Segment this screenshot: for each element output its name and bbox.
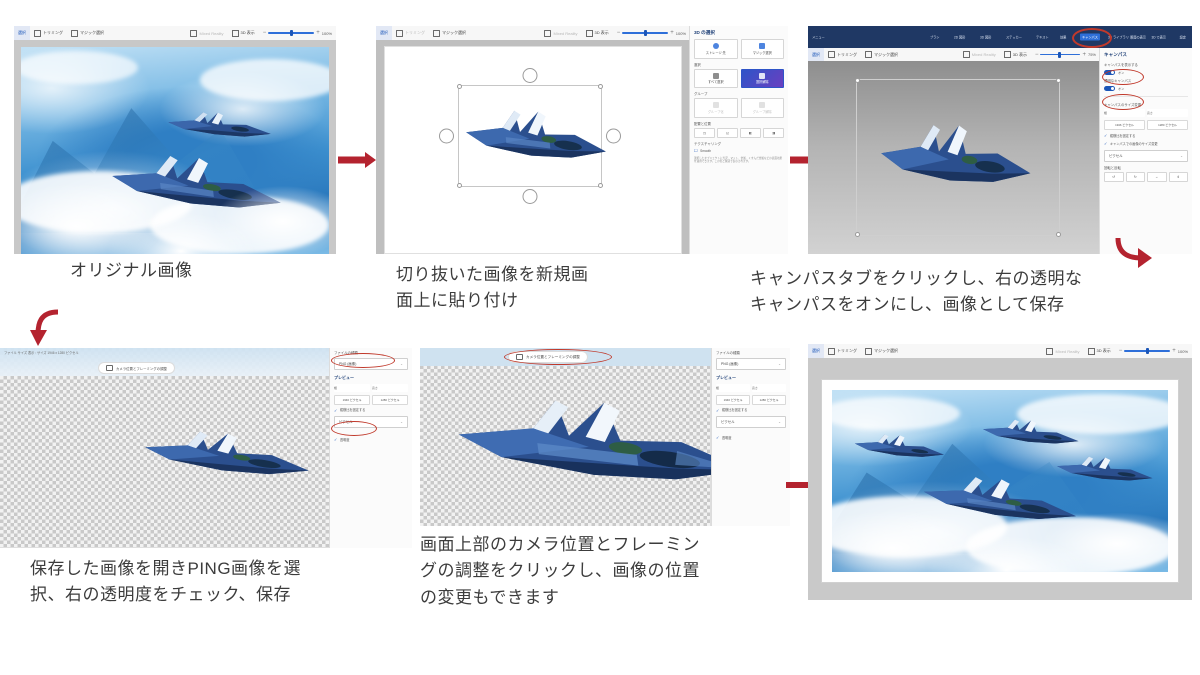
zoom-control[interactable]: − + 100% (613, 30, 690, 36)
chk-transparency-label: 透明度 (340, 438, 350, 442)
ribbon-tab-3d[interactable]: 3D 図形 (980, 35, 991, 40)
magic-select-icon (71, 30, 78, 37)
preview-label: プレビュー (712, 371, 790, 382)
ribbon-tab-text[interactable]: テキスト (1036, 35, 1049, 40)
select-all-icon (713, 73, 719, 79)
camera-banner[interactable]: カメラ位置とフレーミングの調整 (98, 362, 175, 374)
mixed-reality-icon (544, 30, 551, 37)
rotate-handle-top[interactable] (523, 68, 538, 83)
camera-banner-label: カメラ位置とフレーミングの調整 (116, 366, 167, 371)
cloud (150, 196, 329, 254)
zoom-slider[interactable] (1040, 54, 1080, 56)
tool-select[interactable]: 選択 (808, 344, 824, 358)
size-values[interactable]: 1946 ピクセル 1280 ピクセル (1100, 119, 1192, 132)
artwork-original (21, 47, 329, 254)
input-width[interactable]: 1946 ピクセル (716, 395, 750, 405)
ribbon-tab-brush[interactable]: ブラシ (930, 35, 940, 40)
select-label: 選択 (18, 30, 26, 36)
zoom-control[interactable]: − + 75% (1031, 52, 1100, 58)
chk-transparency[interactable]: ✓ 透明度 (712, 434, 790, 442)
arrow-curved-wrap (28, 308, 64, 348)
cloud (21, 171, 193, 233)
artwork-result (832, 390, 1168, 572)
zoom-out-icon[interactable]: − (263, 30, 267, 36)
annotation-circle-toggle-2 (1102, 94, 1144, 110)
handle-tl[interactable] (855, 78, 860, 83)
tool-mixed-reality[interactable]: Mixed Reality (1042, 344, 1083, 358)
toolbar: 選択 トリミング マジック選択 Mixed Reality 3D 表示 − (808, 48, 1100, 62)
chk-ratio-label: 縦横比を固定する (722, 408, 748, 412)
tool-select[interactable]: 選択 (376, 26, 392, 40)
btn-group-label: グループ化 (708, 110, 724, 114)
chevron-down-icon: ⌄ (400, 420, 403, 424)
group-icon (713, 102, 719, 108)
tool-crop[interactable]: トリミング (824, 344, 861, 358)
col-h-label: 高さ (372, 384, 408, 392)
row-group: グループ化 グループ解除 (690, 97, 788, 119)
screen-result: 選択 トリミング マジック選択 Mixed Reality 3D 表示 − (808, 344, 1192, 600)
arrow-shaft (786, 482, 810, 488)
col-h-label: 高さ (1147, 109, 1188, 117)
crop-label: トリミング (837, 52, 857, 58)
handle-top-right[interactable] (598, 84, 603, 89)
toggle1-label: キャンパスを表示する (1100, 60, 1192, 68)
tool-crop[interactable]: トリミング (824, 48, 861, 61)
tool-magic-select[interactable]: マジック選択 (429, 26, 470, 40)
chk-lock-ratio[interactable]: ✓ 縦横比を固定する (712, 406, 790, 414)
flip-horizontal-icon[interactable]: ⇔ (1147, 172, 1167, 182)
zoom-in-icon[interactable]: + (1172, 348, 1176, 354)
chk-smooth[interactable]: ☐ Smooth (690, 147, 788, 155)
toggle2-state: オン (1118, 86, 1124, 91)
tool-view-3d[interactable]: 3D 表示 (1000, 48, 1031, 61)
select-label: 選択 (380, 30, 388, 36)
section-group-label: グループ (690, 89, 788, 97)
crop-icon (828, 348, 835, 355)
mixed-reality-label: Mixed Reality (553, 31, 577, 36)
zoom-slider[interactable] (1124, 350, 1170, 352)
row-align-icons: ◳ ◱ ◧ ◨ (690, 127, 788, 139)
select-file-type[interactable]: PNG (画像) ⌄ (716, 358, 786, 370)
tool-crop[interactable]: トリミング (392, 26, 429, 40)
align-icon-1[interactable]: ◳ (694, 128, 715, 138)
zoom-out-icon[interactable]: − (1119, 348, 1123, 354)
chk-lock-ratio[interactable]: ✓ 縦横比を固定する (1100, 132, 1192, 140)
cloud (200, 59, 329, 100)
chevron-down-icon: ⌄ (778, 362, 781, 366)
btn-ungroup[interactable]: グループ解除 (741, 98, 785, 118)
ribbon-tab-2d[interactable]: 2D 図形 (954, 35, 965, 40)
section-texture-label: テクスチャリング (690, 139, 788, 147)
tool-select[interactable]: 選択 (808, 48, 824, 61)
file-type-label: ファイルの種類 (712, 348, 790, 356)
mixed-reality-icon (1046, 348, 1053, 355)
size-headers: 幅 高さ (1100, 108, 1192, 119)
rotate-right-icon[interactable]: ↻ (1126, 172, 1146, 182)
canvas-bounds[interactable] (856, 79, 1060, 236)
screen-original: 選択 トリミング マジック選択 Mixed Reality 3D 表示 − (14, 26, 336, 254)
ungroup-icon (759, 102, 765, 108)
view3d-label: 3D 表示 (1013, 52, 1027, 58)
ribbon: メニュー ブラシ 2D 図形 3D 図形 ステッカー テキスト 効果 キャンパス… (808, 26, 1192, 48)
input-height[interactable]: 1280 ピクセル (752, 395, 786, 405)
col-h-label: 高さ (752, 384, 786, 392)
size-headers: 幅 高さ (330, 382, 412, 393)
magic-select-icon (865, 348, 872, 355)
ribbon-tab-view-3d[interactable]: 3D で表示 (1151, 35, 1166, 40)
rotate-label: 回転と反転 (1100, 163, 1192, 171)
screen-paste: 選択 トリミング マジック選択 Mixed Reality 3D 表示 − (376, 26, 788, 254)
zoom-control[interactable]: − + 100% (259, 30, 336, 36)
zoom-percent: 100% (1178, 349, 1188, 354)
select-label: 選択 (812, 52, 820, 58)
caption-5-line-3: の変更もできます (420, 585, 700, 611)
input-height[interactable]: 1280 ピクセル (372, 395, 408, 405)
align-icon-2[interactable]: ◱ (717, 128, 738, 138)
magic-select-label: マジック選択 (874, 52, 898, 58)
handle-bottom-left[interactable] (457, 183, 462, 188)
row-select: すべて選択 選択解除 (690, 68, 788, 90)
check-icon: ✓ (334, 437, 337, 442)
col-w-label: 幅 (1104, 109, 1145, 117)
handle-tr[interactable] (1056, 78, 1061, 83)
panel-3d-select: 3D の選択 ストレージ 先 マジック選択 選択 すべて選択 (689, 26, 788, 254)
tool-view-3d[interactable]: 3D 表示 (582, 26, 613, 40)
size-headers: 幅 高さ (712, 382, 790, 393)
cube-icon (1004, 51, 1011, 58)
cloud (21, 51, 138, 84)
annotation-circle-canvas-tab (1072, 28, 1112, 48)
annotation-circle-transparency (331, 421, 377, 436)
chk-fit-image[interactable]: ✓ キャンパスでの画像のサイズ変更 (1100, 140, 1192, 148)
toolbar: 選択 トリミング マジック選択 Mixed Reality 3D 表示 − (808, 344, 1192, 359)
crop-label: トリミング (43, 30, 63, 36)
annotation-circle-camera-banner (504, 349, 612, 365)
zoom-out-icon[interactable]: − (1035, 52, 1039, 58)
zoom-slider-knob[interactable] (644, 30, 646, 36)
view3d-label: 3D 表示 (1097, 348, 1111, 354)
align-icon-3[interactable]: ◧ (740, 128, 761, 138)
ribbon-tab-effect[interactable]: 効果 (1060, 35, 1066, 40)
unit-value: ピクセル (1109, 153, 1123, 158)
cloud (966, 517, 1168, 572)
tool-crop[interactable]: トリミング (30, 26, 67, 40)
section-select-label: 選択 (690, 60, 788, 68)
tool-view-3d[interactable]: 3D 表示 (1084, 344, 1115, 358)
tool-mixed-reality[interactable]: Mixed Reality (186, 26, 227, 40)
canvas-area (808, 358, 1192, 600)
btn-deselect[interactable]: 選択解除 (741, 69, 785, 89)
flip-vertical-icon[interactable]: ⇕ (1169, 172, 1189, 182)
btn-ungroup-label: グループ解除 (753, 110, 772, 114)
chk-fit-label: キャンパスでの画像のサイズ変更 (1110, 142, 1158, 146)
tool-select[interactable]: 選択 (14, 26, 30, 40)
panel-save-options: ファイルの種類 PNG (画像) ⌄ プレビュー 幅 高さ 1946 ピクセル … (711, 348, 790, 526)
crop-label: トリミング (837, 348, 857, 354)
chk-smooth-label: Smooth (700, 149, 711, 153)
select-unit[interactable]: ピクセル ⌄ (1104, 150, 1188, 162)
preview-label: プレビュー (330, 371, 412, 382)
canvas-area (14, 40, 336, 254)
screen-camera: カメラ位置とフレーミングの調整 ファイルの種類 PNG (画像) ⌄ プ (420, 348, 790, 526)
panel-title: キャンパス (1100, 48, 1192, 60)
handle-bottom-right[interactable] (598, 183, 603, 188)
handle-br[interactable] (1056, 232, 1061, 237)
toolbar: 選択 トリミング マジック選択 Mixed Reality 3D 表示 − (14, 26, 336, 41)
tutorial-board: 選択 トリミング マジック選択 Mixed Reality 3D 表示 − (0, 0, 1200, 675)
tool-magic-select[interactable]: マジック選択 (861, 344, 902, 358)
btn-storage[interactable]: ストレージ 先 (694, 39, 738, 59)
tool-mixed-reality[interactable]: Mixed Reality (959, 48, 1000, 61)
selection-box[interactable] (458, 85, 602, 187)
caption-3: キャンパスタブをクリックし、右の透明な キャンパスをオンにし、画像として保存 (750, 266, 1083, 319)
mixed-reality-label: Mixed Reality (1055, 349, 1079, 354)
cloud (832, 397, 960, 430)
arrow-curved-down (1112, 232, 1156, 272)
col-w-label: 幅 (716, 384, 750, 392)
caption-3-line-1: キャンパスタブをクリックし、右の透明な (750, 266, 1083, 292)
ribbon-tab-sticker[interactable]: ステッカー (1006, 35, 1022, 40)
deselect-icon (759, 73, 765, 79)
panel-title: 3D の選択 (690, 26, 788, 38)
zoom-out-icon[interactable]: − (617, 30, 621, 36)
section-align-label: 配置と位置 (690, 119, 788, 127)
ribbon-tab-history[interactable]: 履歴の表示 (1130, 35, 1146, 40)
view3d-label: 3D 表示 (241, 30, 255, 36)
zoom-percent: 100% (322, 31, 332, 36)
btn-select-all[interactable]: すべて選択 (694, 69, 738, 89)
rotate-handle-left[interactable] (439, 129, 454, 144)
tool-view-3d[interactable]: 3D 表示 (228, 26, 259, 40)
magic-select-icon (433, 30, 440, 37)
toolbar: 選択 トリミング マジック選択 Mixed Reality 3D 表示 − (376, 26, 690, 41)
annotation-circle-file-type (331, 353, 395, 368)
cloud (832, 496, 1007, 558)
handle-bl[interactable] (855, 232, 860, 237)
file-type-value: PNG (画像) (721, 361, 738, 366)
zoom-control[interactable]: − + 100% (1115, 348, 1192, 354)
caption-5: 画面上部のカメラ位置とフレーミン グの調整をクリックし、画像の位置 の変更もでき… (420, 532, 700, 611)
canvas-area (808, 61, 1100, 254)
rotate-left-icon[interactable]: ↺ (1104, 172, 1124, 182)
file-info-bar: ファイル サイズ 表示 : サイズ 1946 x 1280 ピクセル (4, 350, 79, 355)
caption-3-line-2: キャンパスをオンにし、画像として保存 (750, 292, 1083, 318)
btn-all-label: すべて選択 (708, 80, 724, 84)
row-tools: ストレージ 先 マジック選択 (690, 38, 788, 60)
zoom-slider-knob[interactable] (1146, 348, 1148, 354)
arrow-1 (338, 152, 376, 168)
zoom-slider[interactable] (622, 32, 668, 34)
result-frame (822, 380, 1178, 582)
annotation-circle-toggle-1 (1102, 69, 1144, 85)
caption-5-line-1: 画面上部のカメラ位置とフレーミン (420, 532, 700, 558)
cube-icon (232, 30, 239, 37)
caption-2-line-1: 切り抜いた画像を新規画 (396, 262, 589, 288)
zoom-slider-knob[interactable] (1058, 52, 1060, 58)
zoom-percent: 100% (676, 31, 686, 36)
caption-5-line-2: グの調整をクリックし、画像の位置 (420, 558, 700, 584)
chk-ratio-label: 縦横比を固定する (340, 408, 366, 412)
view3d-label: 3D 表示 (595, 30, 609, 36)
magic-select-label: マジック選択 (80, 30, 104, 36)
chk-transparency-label: 透明度 (722, 436, 732, 440)
caption-4-line-2: 択、右の透明度をチェック、保存 (30, 582, 301, 608)
btn-group[interactable]: グループ化 (694, 98, 738, 118)
rotate-handle-bottom[interactable] (523, 189, 538, 204)
chk-lock-ratio[interactable]: ✓ 縦横比を固定する (330, 406, 412, 414)
cube-icon (586, 30, 593, 37)
mixed-reality-icon (963, 51, 970, 58)
cube-icon (1088, 348, 1095, 355)
input-width[interactable]: 1946 ピクセル (1104, 120, 1145, 130)
checkbox-icon: ☐ (694, 148, 698, 153)
caption-1: オリジナル画像 (70, 258, 193, 284)
input-width[interactable]: 1946 ピクセル (334, 395, 370, 405)
align-icon-4[interactable]: ◨ (763, 128, 784, 138)
caption-4: 保存した画像を開きPING画像を選 択、右の透明度をチェック、保存 (30, 556, 301, 609)
magic-select-label: マジック選択 (442, 30, 466, 36)
tool-magic-select[interactable]: マジック選択 (861, 48, 902, 61)
chk-ratio-label: 縦横比を固定する (1110, 134, 1136, 138)
ribbon-tab-settings[interactable]: 設定 (1180, 35, 1186, 40)
unit-value: ピクセル (721, 419, 735, 424)
toggle-switch[interactable] (1104, 86, 1115, 91)
btn-selected-label: 選択解除 (756, 80, 769, 84)
check-icon: ✓ (716, 435, 719, 440)
select-unit[interactable]: ピクセル ⌄ (716, 416, 786, 428)
btn-magic-select[interactable]: マジック選択 (741, 39, 785, 59)
toggle-transparent-canvas[interactable]: オン (1100, 84, 1192, 92)
crop-label: トリミング (405, 30, 425, 36)
arrow-shaft (338, 157, 366, 164)
caption-2-line-2: 面上に貼り付け (396, 288, 589, 314)
crop-icon (396, 30, 403, 37)
crop-icon (34, 30, 41, 37)
chevron-down-icon: ⌄ (400, 362, 403, 366)
storage-icon (713, 43, 719, 49)
zoom-in-icon[interactable]: + (316, 30, 320, 36)
check-icon: ✓ (716, 408, 719, 413)
btn-magic-label: マジック選択 (753, 51, 772, 55)
zoom-slider[interactable] (268, 32, 314, 34)
check-icon: ✓ (1104, 141, 1107, 146)
panel-save-options: ファイルの種類 PNG (画像) ⌄ プレビュー 幅 高さ 1946 ピクセル … (329, 348, 412, 548)
size-values[interactable]: 1946 ピクセル 1280 ピクセル (330, 393, 412, 406)
caption-4-line-1: 保存した画像を開きPING画像を選 (30, 556, 301, 582)
magic-select-label: マジック選択 (874, 348, 898, 354)
caption-1-line-1: オリジナル画像 (70, 258, 193, 284)
input-height[interactable]: 1280 ピクセル (1147, 120, 1188, 130)
panel-canvas: キャンパス キャンパスを表示する オン 透明なキャンパス オン キャンパスのサイ… (1099, 48, 1192, 254)
magic-select-icon (759, 43, 765, 49)
arrow-head (365, 152, 376, 168)
jet-on-canvas (871, 99, 1041, 212)
white-canvas (384, 46, 682, 254)
check-icon: ✓ (1104, 133, 1107, 138)
size-values[interactable]: 1946 ピクセル 1280 ピクセル (712, 393, 790, 406)
zoom-in-icon[interactable]: + (1082, 52, 1086, 58)
mixed-reality-icon (190, 30, 197, 37)
screen-canvas: メニュー ブラシ 2D 図形 3D 図形 ステッカー テキスト 効果 キャンパス… (808, 26, 1192, 254)
check-icon: ✓ (334, 408, 337, 413)
screen-save-png: ファイル サイズ 表示 : サイズ 1946 x 1280 ピクセル カメラ位置… (0, 348, 412, 548)
panel-note: 選択したオブジェクトに光沢、マット、金属、くすんだ金属などの表面効果を適用できま… (690, 155, 788, 165)
zoom-slider-knob[interactable] (290, 30, 292, 36)
select-label: 選択 (812, 348, 820, 354)
ribbon-tab-menu[interactable]: メニュー (812, 35, 825, 40)
jet-cropped[interactable] (457, 89, 614, 183)
zoom-percent: 75% (1088, 52, 1096, 57)
tool-mixed-reality[interactable]: Mixed Reality (540, 26, 581, 40)
zoom-in-icon[interactable]: + (670, 30, 674, 36)
chk-transparency[interactable]: ✓ 透明度 (330, 436, 412, 444)
tool-magic-select[interactable]: マジック選択 (67, 26, 108, 40)
mixed-reality-label: Mixed Reality (199, 31, 223, 36)
btn-storage-label: ストレージ 先 (706, 51, 726, 55)
canvas-area (376, 40, 690, 254)
handle-top-left[interactable] (457, 84, 462, 89)
camera-icon (106, 365, 113, 371)
magic-select-icon (865, 51, 872, 58)
crop-icon (828, 51, 835, 58)
caption-2: 切り抜いた画像を新規画 面上に貼り付け (396, 262, 589, 315)
chevron-down-icon: ⌄ (778, 420, 781, 424)
col-w-label: 幅 (334, 384, 370, 392)
mixed-reality-label: Mixed Reality (972, 52, 996, 57)
row-rotate-icons: ↺ ↻ ⇔ ⇕ (1100, 171, 1192, 183)
chevron-down-icon: ⌄ (1180, 154, 1183, 158)
